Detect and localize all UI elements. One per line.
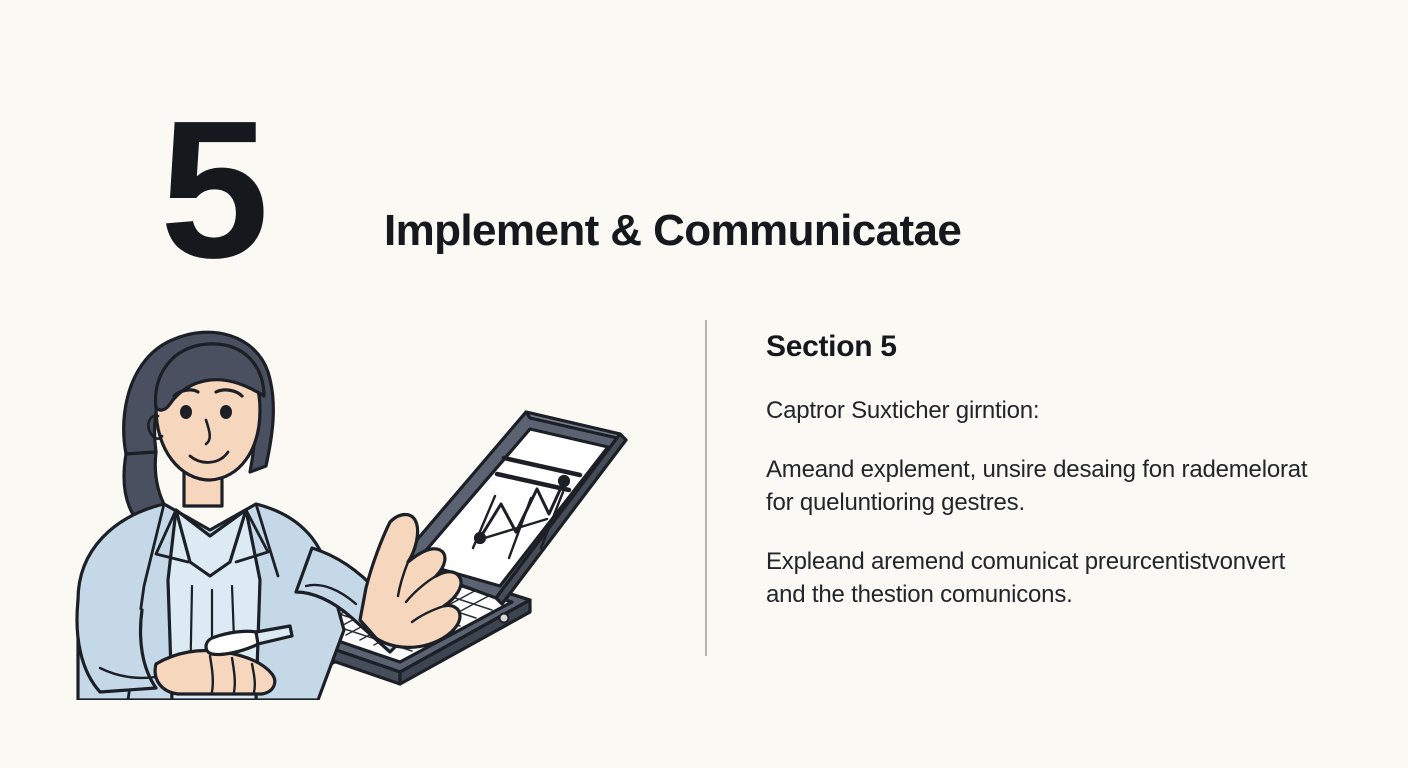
person-figure [77, 332, 461, 700]
body-paragraph: Expleand aremend comunicat preurcentistv… [766, 545, 1326, 611]
slide-title: Implement & Communicatae [384, 206, 961, 256]
illustration-woman-presenting-at-laptop [60, 300, 680, 700]
section-heading: Section 5 [766, 330, 1326, 364]
slide-canvas: 5 Implement & Communicatae [0, 0, 1408, 768]
text-column: Section 5 Captror Suxticher girntion: Am… [766, 330, 1326, 612]
vertical-divider [705, 320, 707, 656]
step-number: 5 [160, 92, 263, 288]
body-paragraph: Captror Suxticher girntion: [766, 394, 1326, 427]
body-paragraph: Ameand explement, unsire desaing fon rad… [766, 453, 1326, 519]
